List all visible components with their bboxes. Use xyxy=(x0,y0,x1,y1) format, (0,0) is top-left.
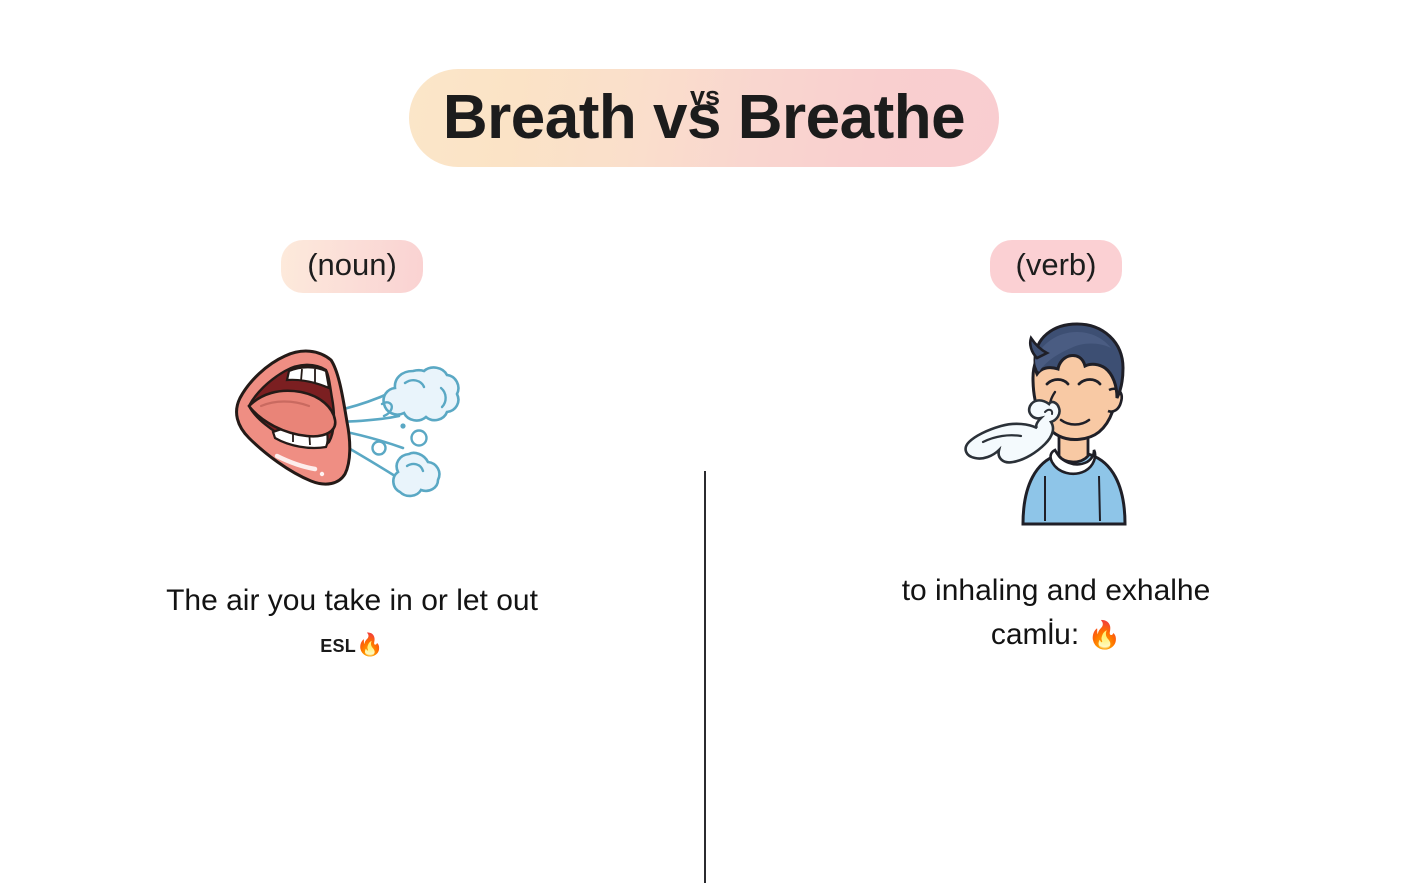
title-ghost-vs-artifact: vs xyxy=(690,83,720,110)
column-verb: (verb) xyxy=(704,228,1408,678)
comparison-columns: (noun) xyxy=(0,228,1408,678)
slide-canvas: Breath vs Breathe vs (noun) xyxy=(0,0,1408,768)
illustration-open-mouth-breathing-out xyxy=(227,321,477,521)
caption-noun-sub: ESL🔥 xyxy=(166,629,538,661)
open-mouth-svg xyxy=(227,326,477,516)
column-divider xyxy=(704,471,706,883)
badge-part-of-speech-verb: (verb) xyxy=(990,240,1123,293)
illustration-person-exhaling xyxy=(949,321,1164,521)
caption-verb-line-2: caml̇u: 🔥 xyxy=(902,613,1211,657)
breath-cloud-lower xyxy=(393,453,439,496)
badge-part-of-speech-noun: (noun) xyxy=(281,240,423,293)
title-area: Breath vs Breathe vs xyxy=(0,64,1408,172)
person-exhaling-svg xyxy=(949,316,1164,526)
caption-verb: to inhaling and exhalhe caml̇u: 🔥 xyxy=(902,569,1211,656)
caption-noun-sub-label: ESL xyxy=(320,636,356,656)
exhaled-breath-group xyxy=(965,400,1059,462)
fire-emoji: 🔥 xyxy=(1088,620,1122,650)
caption-noun: The air you take in or let out ESL🔥 xyxy=(166,579,538,660)
column-noun: (noun) xyxy=(0,228,704,678)
breath-cloud-upper xyxy=(384,368,459,421)
mouth-group xyxy=(237,351,350,484)
fire-emoji: 🔥 xyxy=(356,632,384,657)
caption-verb-text: to inhaling and exhalhe xyxy=(902,574,1211,607)
caption-noun-text: The air you take in or let out xyxy=(166,584,538,617)
caption-verb-text-2: caml̇u: xyxy=(991,618,1079,651)
title-pill: Breath vs Breathe vs xyxy=(409,69,999,167)
